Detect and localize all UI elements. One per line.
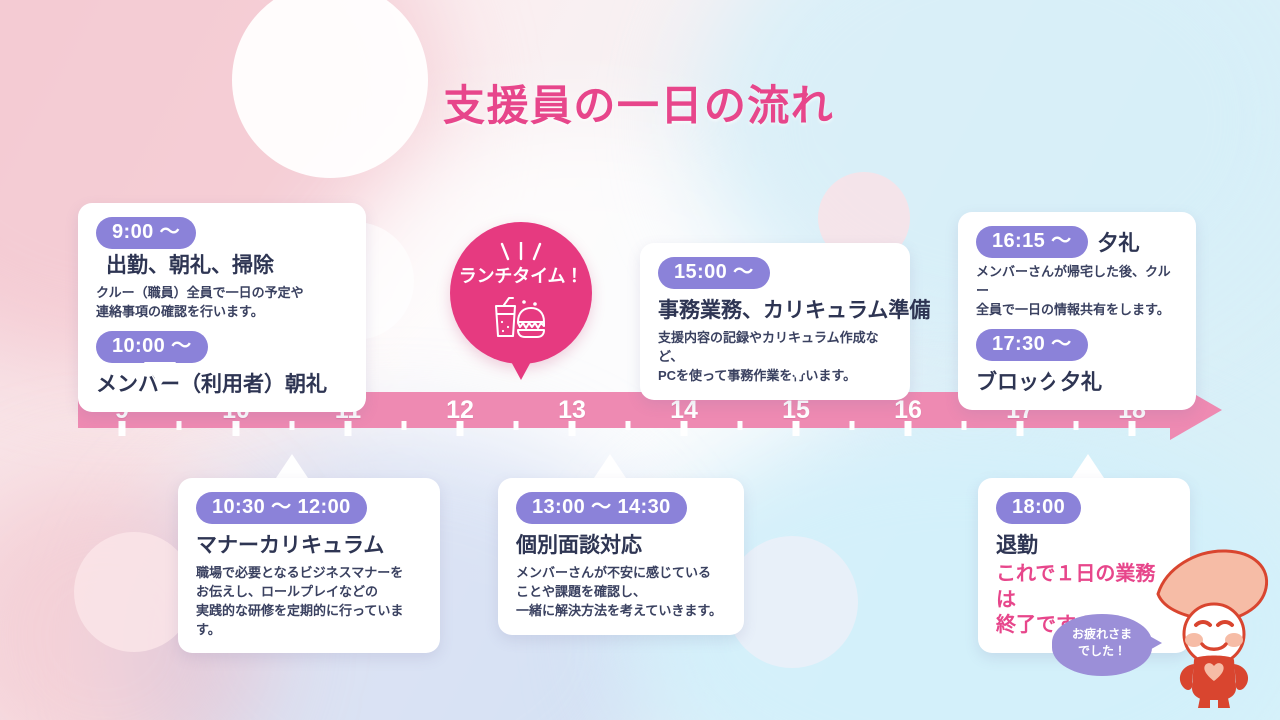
tick-major-16 xyxy=(905,421,912,436)
tick-minor-17-30 xyxy=(1074,421,1079,430)
infographic-canvas: 支援員の一日の流れ 9 10 11 12 13 14 15 16 17 18 xyxy=(0,0,1280,720)
mascot-speech-text: お疲れさま でした！ xyxy=(1052,626,1152,661)
timeline-card-afternoon-tail xyxy=(782,357,814,381)
tick-major-13 xyxy=(569,421,576,436)
card-heading-secondary: メンバー（利用者）朝礼 xyxy=(96,368,348,398)
time-badge: 18:00 xyxy=(996,492,1081,524)
tick-major-18 xyxy=(1129,421,1136,436)
tick-minor-13-30 xyxy=(626,421,631,430)
tick-minor-12-30 xyxy=(514,421,519,430)
tick-major-10 xyxy=(233,421,240,436)
card-heading: マナーカリキュラム xyxy=(196,529,422,559)
mascot-character xyxy=(1152,548,1274,708)
tick-major-17 xyxy=(1017,421,1024,436)
tick-major-12 xyxy=(457,421,464,436)
timeline-card-afternoon[interactable]: 15:00 〜 事務業務、カリキュラム準備 支援内容の記録やカリキュラム作成など… xyxy=(640,243,910,400)
tick-major-9 xyxy=(119,421,126,436)
timeline-card-manner-tail xyxy=(276,454,308,478)
lunch-time-bubble[interactable]: ランチタイム！ xyxy=(450,222,592,364)
timeline-card-evening-tail xyxy=(1042,362,1074,386)
timeline-card-interview-tail xyxy=(594,454,626,478)
card-description: クルー（職員）全員で一日の予定や 連絡事項の確認を行います。 xyxy=(96,284,348,322)
tick-minor-16-30 xyxy=(962,421,967,430)
time-badge: 10:30 〜 12:00 xyxy=(196,492,367,524)
card-heading: 退勤 xyxy=(996,529,1172,559)
timeline-card-interview[interactable]: 13:00 〜 14:30 個別面談対応 メンバーさんが不安に感じている ことや… xyxy=(498,478,744,635)
hour-label-14: 14 xyxy=(670,396,698,424)
card-heading-secondary: ブロック夕礼 xyxy=(976,366,1178,396)
lunch-time-label: ランチタイム！ xyxy=(450,262,592,288)
card-description: メンバーさんが不安に感じている ことや課題を確認し、 一緒に解決方法を考えていき… xyxy=(516,564,726,621)
tick-major-14 xyxy=(681,421,688,436)
time-badge-secondary: 17:30 〜 xyxy=(976,329,1088,361)
timeline-card-evening[interactable]: 16:15 〜夕礼 メンバーさんが帰宅した後、クルー 全員で一日の情報共有をしま… xyxy=(958,212,1196,410)
card-description: 支援内容の記録やカリキュラム作成など、 PCを使って事務作業を行います。 xyxy=(658,329,892,386)
tick-minor-10-30 xyxy=(290,421,295,430)
time-badge: 13:00 〜 14:30 xyxy=(516,492,687,524)
hour-label-12: 12 xyxy=(446,396,474,424)
tick-minor-15-30 xyxy=(850,421,855,430)
timeline-card-manner[interactable]: 10:30 〜 12:00 マナーカリキュラム 職場で必要となるビジネスマナーを… xyxy=(178,478,440,653)
timeline-card-leave-tail xyxy=(1072,454,1104,478)
hour-label-15: 15 xyxy=(782,396,810,424)
tick-minor-11-30 xyxy=(402,421,407,430)
card-heading: 出勤、朝礼、掃除 xyxy=(106,249,274,279)
lunch-time-bubble-tail xyxy=(508,356,534,380)
hour-label-13: 13 xyxy=(558,396,586,424)
decorative-circle-pale-bottomcenter xyxy=(726,536,858,668)
decorative-circle-pink-bottomleft xyxy=(74,532,194,652)
page-title: 支援員の一日の流れ xyxy=(443,72,834,133)
sparkle-icon xyxy=(498,242,544,262)
tick-major-15 xyxy=(793,421,800,436)
card-heading: 個別面談対応 xyxy=(516,529,726,559)
tick-minor-9-30 xyxy=(177,421,182,430)
burger-drink-icon xyxy=(493,294,549,344)
time-badge: 9:00 〜 xyxy=(96,217,196,249)
tick-major-11 xyxy=(345,421,352,436)
timeline-card-morning[interactable]: 9:00 〜出勤、朝礼、掃除 クルー（職員）全員で一日の予定や 連絡事項の確認を… xyxy=(78,203,366,412)
hour-label-16: 16 xyxy=(894,396,922,424)
time-badge: 15:00 〜 xyxy=(658,257,770,289)
timeline-card-morning-tail xyxy=(144,362,176,386)
tick-minor-14-30 xyxy=(738,421,743,430)
card-heading: 事務業務、カリキュラム準備 xyxy=(658,294,892,324)
time-badge: 16:15 〜 xyxy=(976,226,1088,258)
time-badge-secondary: 10:00 〜 xyxy=(96,331,208,363)
card-description: 職場で必要となるビジネスマナーを お伝えし、ロールプレイなどの 実践的な研修を定… xyxy=(196,564,422,639)
card-heading: 夕礼 xyxy=(1098,227,1140,257)
decorative-circle-large-top xyxy=(232,0,428,178)
card-description: メンバーさんが帰宅した後、クルー 全員で一日の情報共有をします。 xyxy=(976,263,1178,320)
